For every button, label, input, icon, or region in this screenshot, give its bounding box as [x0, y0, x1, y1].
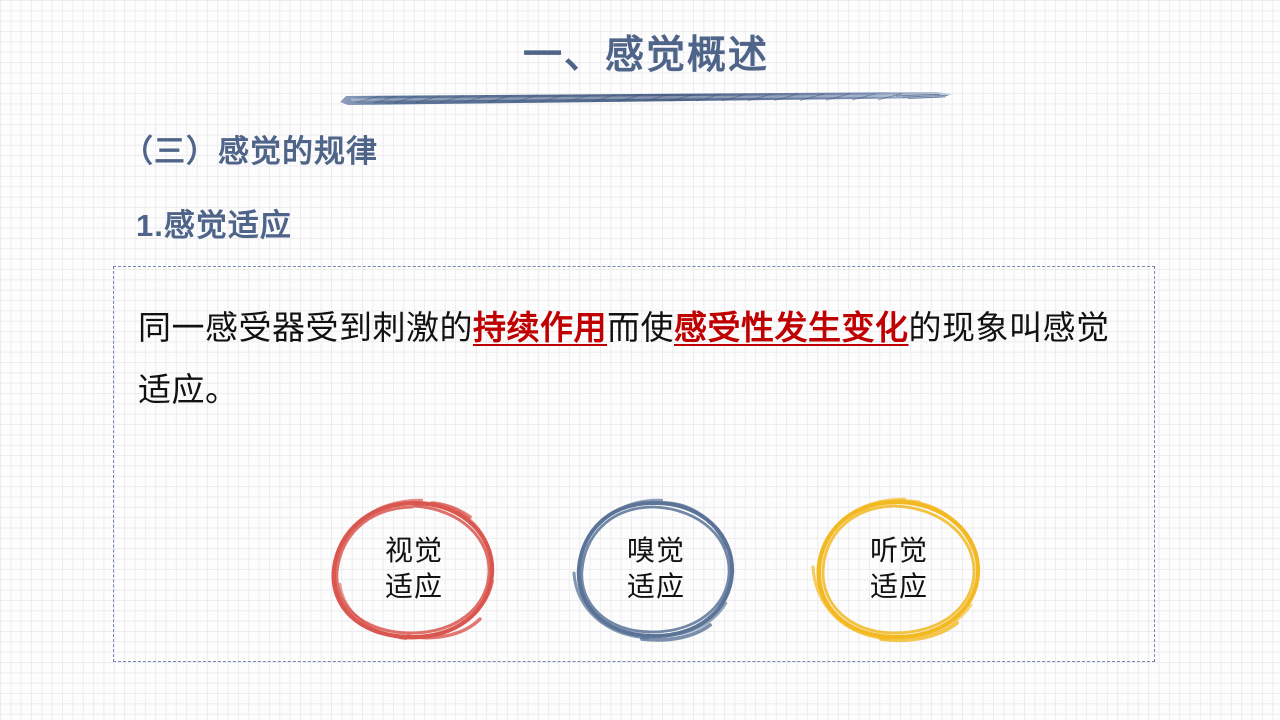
- circle-label: 嗅觉 适应: [546, 489, 766, 649]
- circle-label-line1: 嗅觉: [627, 533, 685, 569]
- slide-canvas: 一、感觉概述: [0, 0, 1280, 720]
- circle-label-line1: 视觉: [385, 533, 443, 569]
- definition-text-part2: 而使: [607, 309, 674, 346]
- circle-label-line1: 听觉: [870, 533, 928, 569]
- circle-item-olfactory-adaptation: 嗅觉 适应: [546, 489, 766, 649]
- circle-label-line2: 适应: [870, 569, 928, 605]
- definition-text-part1: 同一感受器受到刺激的: [138, 309, 473, 346]
- circle-label-line2: 适应: [385, 569, 443, 605]
- circle-item-visual-adaptation: 视觉 适应: [304, 489, 524, 649]
- title-brush-underline-icon: [336, 85, 956, 109]
- circle-items-row: 视觉 适应: [114, 489, 1156, 649]
- circle-label: 听觉 适应: [789, 489, 1009, 649]
- title-block: 一、感觉概述: [336, 30, 956, 110]
- definition-content-box: 同一感受器受到刺激的持续作用而使感受性发生变化的现象叫感觉适应。: [113, 266, 1155, 662]
- sub-heading: 1.感觉适应: [136, 205, 292, 247]
- definition-paragraph: 同一感受器受到刺激的持续作用而使感受性发生变化的现象叫感觉适应。: [138, 297, 1138, 421]
- definition-emphasis-1: 持续作用: [473, 309, 607, 346]
- circle-label: 视觉 适应: [304, 489, 524, 649]
- circle-label-line2: 适应: [627, 569, 685, 605]
- page-title: 一、感觉概述: [336, 30, 956, 82]
- circle-item-auditory-adaptation: 听觉 适应: [789, 489, 1009, 649]
- definition-emphasis-2: 感受性发生变化: [674, 309, 909, 346]
- section-heading: （三）感觉的规律: [122, 131, 378, 173]
